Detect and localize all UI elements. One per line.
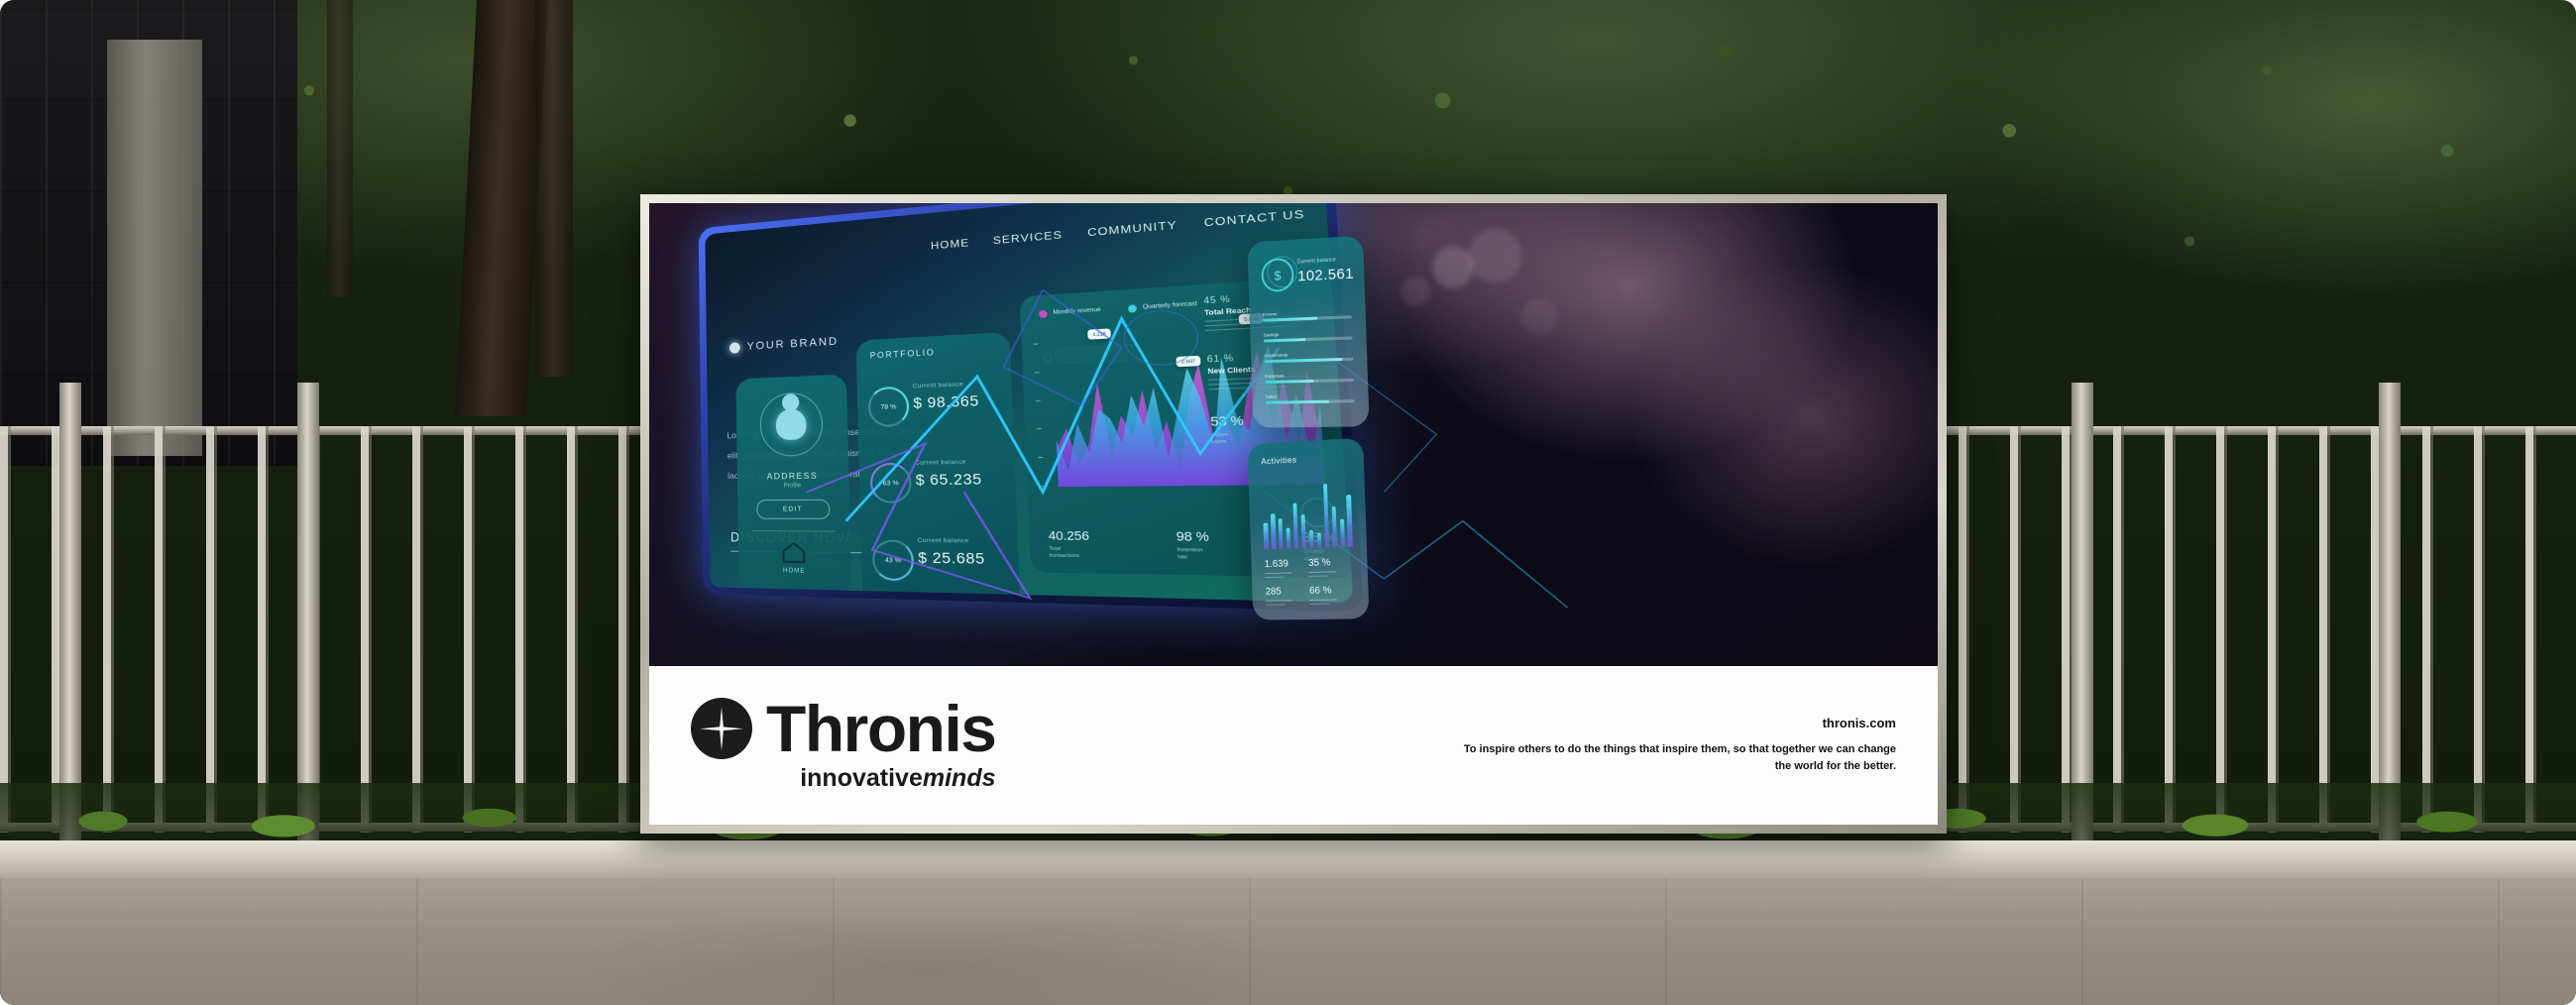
progress-ring: 78 %: [867, 386, 909, 427]
progress-ring: 43 %: [872, 539, 915, 581]
bokeh-light: [1468, 229, 1521, 282]
stone-pillar: [107, 40, 202, 456]
bar-row: Savings: [1264, 329, 1353, 342]
stat-item: 285: [1266, 586, 1310, 606]
activities-stats: 1.639 35 % 285 66 %: [1265, 557, 1356, 614]
stat-item: 1.639: [1265, 558, 1309, 578]
bar-row: Expenses: [1265, 372, 1354, 384]
bokeh-light: [1521, 298, 1557, 334]
tagline-first: innovative: [800, 764, 923, 792]
portfolio-percent: 78 %: [880, 402, 896, 410]
stat-value: 285: [1266, 586, 1310, 598]
activities-card: Activities: [1247, 438, 1369, 620]
billboard: HOME SERVICES COMMUNITY CONTACT US YOUR …: [640, 194, 1947, 834]
stat-item: 35 %: [1308, 557, 1354, 577]
bar-row: Investments: [1264, 351, 1353, 364]
stat-item: 66 %: [1309, 585, 1355, 605]
tree-trunk: [535, 0, 573, 377]
divider: [752, 530, 836, 531]
balance-value: 102.561: [1297, 265, 1354, 284]
progress-track: [1264, 336, 1353, 342]
nav-item-community[interactable]: COMMUNITY: [1087, 219, 1177, 240]
progress-ring: 63 %: [869, 463, 912, 503]
user-icon: [776, 408, 807, 440]
your-brand-logo: YOUR BRAND: [729, 335, 839, 353]
bar-row: Income: [1263, 308, 1352, 322]
stat-value: 40.256: [1049, 529, 1090, 543]
concrete-curb: [0, 840, 2576, 880]
activities-title: Activities: [1261, 455, 1296, 467]
portfolio-row: 43 % Current balance $ 25.685: [871, 531, 1010, 595]
stat-value: 98 %: [1176, 529, 1209, 543]
logo-lockup: Thronis innovativeminds: [691, 698, 996, 793]
legend-swatch-icon: [1128, 304, 1137, 312]
fence-post: [2379, 383, 2401, 848]
profile-label: ADDRESS: [737, 470, 849, 482]
thronis-star-icon: [691, 698, 752, 759]
nav-item-services[interactable]: SERVICES: [993, 229, 1064, 248]
stat-label: Total: [1049, 545, 1061, 551]
fence-post: [297, 383, 319, 848]
stat-value: 66 %: [1309, 585, 1355, 597]
home-icon[interactable]: [780, 541, 807, 565]
nav-item-home[interactable]: HOME: [931, 237, 969, 253]
portfolio-caption: Current balance: [918, 538, 969, 545]
nav-item-contact-us[interactable]: CONTACT US: [1203, 207, 1305, 229]
chart-tooltip: 2.907: [1176, 356, 1200, 368]
tagline-second: minds: [923, 764, 996, 792]
portfolio-row: 63 % Current balance $ 65.235: [869, 452, 1007, 513]
portfolio-row: 78 % Current balance $ 98.365: [867, 374, 1004, 438]
stat-label: rate: [1177, 553, 1188, 559]
fence-post: [59, 383, 81, 848]
stat-label: transactions: [1050, 552, 1080, 558]
logo-row: Thronis: [691, 698, 996, 760]
concrete-base-wall: [0, 878, 2576, 1005]
brand-wordmark: Thronis: [766, 698, 996, 760]
activities-bar-chart: [1262, 477, 1353, 550]
bokeh-light: [1400, 277, 1430, 306]
legend-label: Quarterly forecast: [1143, 300, 1197, 310]
brand-info: thronis.com To inspire others to do the …: [1460, 716, 1896, 774]
stat-label: Active: [1211, 431, 1228, 437]
website-url[interactable]: thronis.com: [1460, 716, 1896, 730]
brand-label: YOUR BRAND: [746, 335, 839, 352]
profile-card: ADDRESS Profile EDIT HOME: [735, 374, 851, 595]
portfolio-value: $ 65.235: [916, 470, 983, 488]
portfolio-card: PORTFOLIO 78 % Current balance $ 98.365: [855, 332, 1020, 603]
bar-label: Expenses: [1265, 372, 1354, 379]
progress-track: [1265, 379, 1354, 384]
home-label: HOME: [738, 567, 851, 575]
site-navigation[interactable]: HOME SERVICES COMMUNITY CONTACT US: [931, 207, 1305, 252]
profile-sub: Profile: [737, 483, 849, 490]
balance-caption: Current balance: [1297, 257, 1336, 265]
bar-label: Sales: [1266, 392, 1355, 399]
brand-tagline: innovativeminds: [800, 764, 995, 793]
stat-value: 35 %: [1308, 557, 1354, 569]
legend-item: Quarterly forecast: [1128, 300, 1197, 312]
tree-trunk: [327, 0, 353, 297]
stat-label: users: [1211, 438, 1226, 444]
profile-edit-button[interactable]: EDIT: [756, 500, 830, 519]
brand-panel: Thronis innovativeminds thronis.com To i…: [649, 666, 1938, 826]
portfolio-value: $ 25.685: [918, 548, 985, 567]
fence-post: [2072, 383, 2093, 848]
bar-row: Sales: [1266, 392, 1355, 404]
stat-value: 1.639: [1265, 558, 1309, 570]
brand-mark-icon: [729, 342, 740, 354]
balance-bars: Income Savings Investments Expenses: [1263, 308, 1355, 415]
legend-item: Monthly revenue: [1039, 306, 1101, 318]
legend-label: Monthly revenue: [1053, 306, 1101, 316]
chart-tooltip: 4.218: [1087, 328, 1111, 339]
balance-card: $ Current balance 102.561 Income Savings: [1247, 236, 1369, 428]
dollar-coin-icon: $: [1261, 258, 1294, 292]
progress-track: [1265, 358, 1354, 364]
stat-item: 40.256 Total transactions: [1049, 529, 1091, 560]
portfolio-title: PORTFOLIO: [870, 348, 936, 361]
chart-y-axis: [1033, 343, 1054, 487]
avatar: [759, 391, 823, 457]
portfolio-percent: 43 %: [885, 556, 902, 564]
billboard-surface: HOME SERVICES COMMUNITY CONTACT US YOUR …: [649, 203, 1938, 825]
portfolio-value: $ 98.365: [913, 391, 979, 411]
mission-statement: To inspire others to do the things that …: [1460, 741, 1896, 774]
hero-artwork: HOME SERVICES COMMUNITY CONTACT US YOUR …: [649, 203, 1938, 665]
legend-swatch-icon: [1039, 310, 1048, 318]
stat-label: Retention: [1176, 546, 1202, 552]
portfolio-percent: 63 %: [882, 479, 898, 487]
billboard-scene: HOME SERVICES COMMUNITY CONTACT US YOUR …: [0, 0, 2576, 1005]
stat-item: 98 % Retention rate: [1176, 529, 1210, 561]
progress-track: [1266, 399, 1355, 404]
portfolio-caption: Current balance: [915, 459, 966, 466]
chart-legend: Monthly revenue Quarterly forecast: [1039, 300, 1197, 318]
portfolio-caption: Current balance: [913, 382, 963, 391]
